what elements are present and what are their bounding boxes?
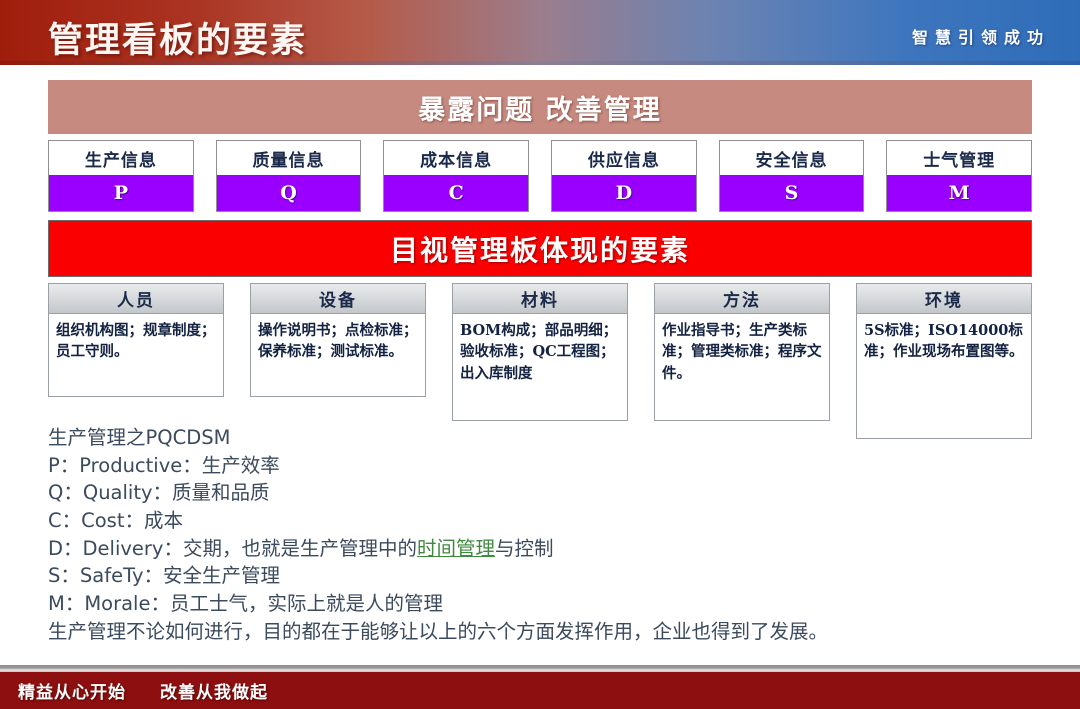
five-m-box-title: 环境 [857, 284, 1031, 314]
five-m-box-title: 方法 [655, 284, 829, 314]
footer-slogan-left: 精益从心开始 [18, 683, 126, 703]
explanation-line-d-prefix: D：Delivery：交期，也就是生产管理中的 [48, 537, 417, 560]
explanation-line-s: S：SafeTy：安全生产管理 [48, 562, 1058, 590]
pqcdsm-card-title: 士气管理 [887, 141, 1031, 175]
pqcdsm-card-title: 质量信息 [217, 141, 361, 175]
explanation-conclusion: 生产管理不论如何进行，目的都在于能够让以上的六个方面发挥作用，企业也得到了发展。 [48, 618, 1058, 646]
five-m-box-body: 组织机构图；规章制度；员工守则。 [49, 314, 223, 396]
pqcdsm-card-c[interactable]: 成本信息 C [383, 140, 529, 212]
explanation-heading: 生产管理之PQCDSM [48, 424, 1058, 452]
pqcdsm-card-title: 成本信息 [384, 141, 528, 175]
pqcdsm-explanation-text: 生产管理之PQCDSM P：Productive：生产效率 Q：Quality：… [48, 424, 1058, 646]
five-m-box-body: 作业指导书；生产类标准；管理类标准；程序文件。 [655, 314, 829, 420]
pqcdsm-card-letter: C [384, 175, 528, 211]
five-m-box-method[interactable]: 方法 作业指导书；生产类标准；管理类标准；程序文件。 [654, 283, 830, 421]
five-m-box-row: 人员 组织机构图；规章制度；员工守则。 设备 操作说明书；点检标准；保养标准；测… [48, 283, 1032, 439]
pqcdsm-card-q[interactable]: 质量信息 Q [216, 140, 362, 212]
five-m-box-environment[interactable]: 环境 5S标准；ISO14000标准；作业现场布置图等。 [856, 283, 1032, 439]
five-m-box-material[interactable]: 材料 BOM构成；部品明细；验收标准；QC工程图；出入库制度 [452, 283, 628, 421]
pqcdsm-card-m[interactable]: 士气管理 M [886, 140, 1032, 212]
slide-header: 管理看板的要素 智慧引领成功 [0, 0, 1080, 65]
pqcdsm-card-d[interactable]: 供应信息 D [551, 140, 697, 212]
pqcdsm-card-title: 安全信息 [720, 141, 864, 175]
page-title: 管理看板的要素 [48, 12, 307, 63]
footer-top-divider [0, 665, 1080, 672]
pqcdsm-card-letter: M [887, 175, 1031, 211]
pqcdsm-card-p[interactable]: 生产信息 P [48, 140, 194, 212]
pqcdsm-card-letter: S [720, 175, 864, 211]
five-m-box-body: 操作说明书；点检标准；保养标准；测试标准。 [251, 314, 425, 396]
footer-slogan-right: 改善从我做起 [160, 683, 268, 703]
explanation-line-m: M：Morale：员工士气，实际上就是人的管理 [48, 590, 1058, 618]
pqcdsm-card-row: 生产信息 P 质量信息 Q 成本信息 C 供应信息 D 安全信息 S 士气管理 … [48, 140, 1032, 212]
footer-slogan: 精益从心开始改善从我做起 [18, 678, 268, 703]
five-m-box-body: 5S标准；ISO14000标准；作业现场布置图等。 [857, 314, 1031, 438]
pqcdsm-card-letter: Q [217, 175, 361, 211]
explanation-line-d: D：Delivery：交期，也就是生产管理中的时间管理与控制 [48, 535, 1058, 563]
explanation-line-p: P：Productive：生产效率 [48, 452, 1058, 480]
explanation-line-q: Q：Quality：质量和品质 [48, 479, 1058, 507]
five-m-box-body: BOM构成；部品明细；验收标准；QC工程图；出入库制度 [453, 314, 627, 420]
pqcdsm-card-s[interactable]: 安全信息 S [719, 140, 865, 212]
visual-management-banner: 目视管理板体现的要素 [48, 220, 1032, 277]
time-management-link[interactable]: 时间管理 [417, 537, 495, 560]
five-m-box-title: 设备 [251, 284, 425, 314]
five-m-box-equipment[interactable]: 设备 操作说明书；点检标准；保养标准；测试标准。 [250, 283, 426, 397]
slide-footer: 精益从心开始改善从我做起 [0, 665, 1080, 709]
explanation-line-d-suffix: 与控制 [495, 537, 554, 560]
pqcdsm-card-title: 供应信息 [552, 141, 696, 175]
visual-management-banner-label: 目视管理板体现的要素 [390, 229, 690, 269]
exposure-banner-label: 暴露问题 改善管理 [418, 88, 661, 127]
five-m-box-title: 材料 [453, 284, 627, 314]
pqcdsm-card-title: 生产信息 [49, 141, 193, 175]
pqcdsm-card-letter: P [49, 175, 193, 211]
exposure-banner: 暴露问题 改善管理 [48, 80, 1032, 134]
header-tagline: 智慧引领成功 [912, 24, 1050, 48]
explanation-line-c: C：Cost：成本 [48, 507, 1058, 535]
pqcdsm-card-letter: D [552, 175, 696, 211]
five-m-box-title: 人员 [49, 284, 223, 314]
five-m-box-personnel[interactable]: 人员 组织机构图；规章制度；员工守则。 [48, 283, 224, 397]
header-underline-divider [0, 61, 1080, 65]
